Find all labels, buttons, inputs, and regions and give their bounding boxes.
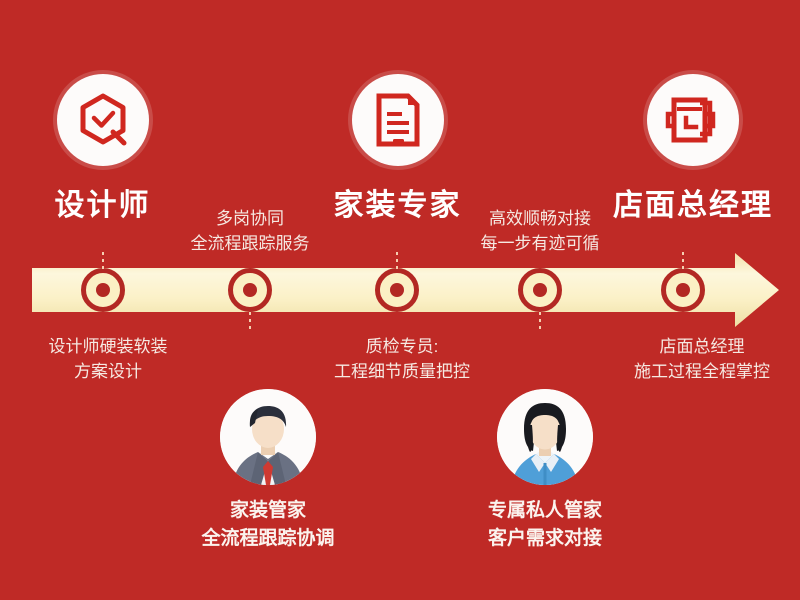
role-badge-renovation-expert[interactable]: 家装专家 [310, 74, 485, 224]
avatar-label-private-steward-line1: 专属私人管家 [445, 497, 645, 525]
caption-below-node5: 店面总经理 施工过程全程掌控 [600, 335, 800, 384]
caption-below-node1-line1: 设计师硬装软装 [8, 335, 208, 360]
caption-below-node3-line2: 工程细节质量把控 [302, 360, 502, 385]
male-avatar-suit-icon [220, 389, 316, 485]
caption-above-node2-line1: 多岗协同 [150, 207, 350, 232]
caption-below-node5-line1: 店面总经理 [600, 335, 800, 360]
caption-above-node4-line2: 每一步有迹可循 [440, 232, 640, 257]
caption-below-node1-line2: 方案设计 [8, 360, 208, 385]
avatar-label-home-steward: 家装管家 全流程跟踪协调 [168, 497, 368, 552]
caption-above-node4: 高效顺畅对接 每一步有迹可循 [440, 207, 640, 256]
connector-node4-down [539, 312, 541, 330]
connector-node1-up [102, 252, 104, 270]
caption-above-node2-line2: 全流程跟踪服务 [150, 232, 350, 257]
caption-above-node4-line1: 高效顺畅对接 [440, 207, 640, 232]
timeline-node-2[interactable] [228, 268, 272, 312]
avatar-label-home-steward-line2: 全流程跟踪协调 [168, 525, 368, 553]
role-icon-wrap-store-manager [647, 74, 739, 166]
caption-below-node3: 质检专员: 工程细节质量把控 [302, 335, 502, 384]
hexagon-check-magnifier-icon [75, 92, 131, 148]
avatar-label-home-steward-line1: 家装管家 [168, 497, 368, 525]
document-tablet-icon [372, 92, 424, 148]
timeline-node-4[interactable] [518, 268, 562, 312]
avatar-private-steward [497, 389, 593, 485]
avatar-home-steward [220, 389, 316, 485]
connector-node3-up [396, 252, 398, 270]
role-badge-store-manager[interactable]: 店面总经理 [600, 74, 786, 224]
avatar-block-private-steward[interactable]: 专属私人管家 客户需求对接 [445, 389, 645, 552]
connector-node5-up [682, 252, 684, 270]
female-avatar-shirt-icon [497, 389, 593, 485]
role-badge-designer[interactable]: 设计师 [15, 74, 190, 224]
caption-below-node1: 设计师硬装软装 方案设计 [8, 335, 208, 384]
role-icon-wrap-renovation-expert [352, 74, 444, 166]
avatar-block-home-steward[interactable]: 家装管家 全流程跟踪协调 [168, 389, 368, 552]
role-icon-wrap-designer [57, 74, 149, 166]
connector-node2-down [249, 312, 251, 330]
timeline-node-5[interactable] [661, 268, 705, 312]
poster-canvas: 设计师 家装专家 店面总经理 [0, 0, 800, 600]
caption-above-node2: 多岗协同 全流程跟踪服务 [150, 207, 350, 256]
caption-below-node5-line2: 施工过程全程掌控 [600, 360, 800, 385]
avatar-label-private-steward: 专属私人管家 客户需求对接 [445, 497, 645, 552]
avatar-label-private-steward-line2: 客户需求对接 [445, 525, 645, 553]
caption-below-node3-line1: 质检专员: [302, 335, 502, 360]
folder-clock-icon [664, 94, 722, 146]
timeline-node-1[interactable] [81, 268, 125, 312]
timeline-node-3[interactable] [375, 268, 419, 312]
